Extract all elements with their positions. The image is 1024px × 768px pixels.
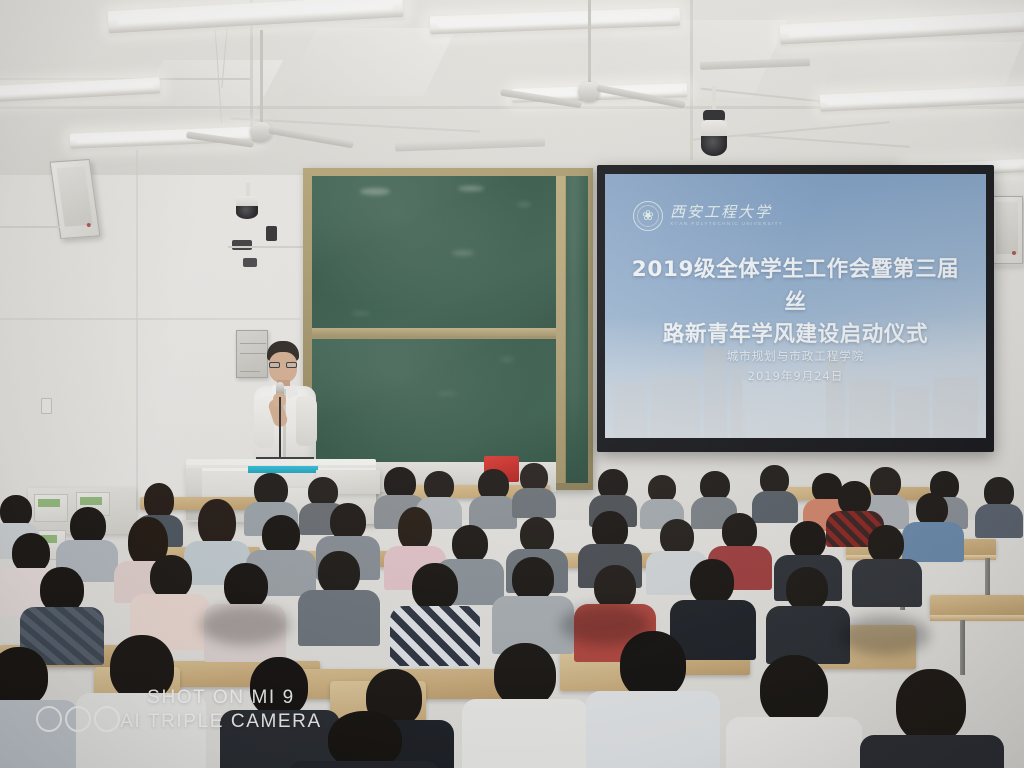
ceiling-fan-rod <box>260 30 263 125</box>
microphone-cord <box>279 397 281 457</box>
triple-camera-rings-icon <box>36 706 124 732</box>
university-logo: ❀ 西安工程大学 XI'AN POLYTECHNIC UNIVERSITY <box>633 201 783 231</box>
blackboard-upper-panel <box>312 176 557 331</box>
blackboard-divider <box>312 328 557 336</box>
presenter-arm-right <box>296 396 317 446</box>
camera-watermark: SHOT ON MI 9 AI TRIPLE CAMERA <box>0 688 330 750</box>
wall-sensor-icon <box>266 226 277 241</box>
wall-speaker-right <box>991 196 1023 264</box>
wall-seam <box>0 318 300 320</box>
wall-bracket <box>243 258 257 267</box>
presenter-eyeglasses <box>269 362 297 368</box>
ceiling-beam <box>690 0 693 160</box>
university-name-cn: 西安工程大学 <box>670 205 783 221</box>
dome-camera-lens <box>236 206 258 219</box>
dome-camera-lens <box>701 136 727 156</box>
wall-conduit <box>0 226 60 228</box>
light-switch[interactable] <box>41 398 52 414</box>
slide-date: 2019年9月24日 <box>605 366 986 386</box>
photo-scene: ❀ 西安工程大学 XI'AN POLYTECHNIC UNIVERSITY 20… <box>0 0 1024 768</box>
university-emblem-icon: ❀ <box>633 201 663 231</box>
slide-subtitle-block: 城市规划与市政工程学院 2019年9月24日 <box>605 346 986 386</box>
watermark-text: SHOT ON MI 9 AI TRIPLE CAMERA <box>112 686 330 735</box>
watermark-line2: AI TRIPLE CAMERA <box>112 710 330 734</box>
projected-slide: ❀ 西安工程大学 XI'AN POLYTECHNIC UNIVERSITY 20… <box>605 174 986 438</box>
desk-leg <box>960 620 965 675</box>
wall-conduit <box>228 246 308 248</box>
wall-bracket <box>232 240 252 250</box>
blackboard-side-panel <box>566 176 588 483</box>
ceiling-fan-rod <box>588 0 591 85</box>
university-name-en: XI'AN POLYTECHNIC UNIVERSITY <box>670 222 783 227</box>
blackboard-divider <box>556 176 565 483</box>
desk <box>930 595 1024 617</box>
projection-screen: ❀ 西安工程大学 XI'AN POLYTECHNIC UNIVERSITY 20… <box>597 165 994 452</box>
slide-title: 2019级全体学生工作会暨第三届丝 路新青年学风建设启动仪式 <box>605 254 986 352</box>
dome-camera-rod <box>712 86 716 112</box>
desk-edge <box>930 615 1024 621</box>
slide-department: 城市规划与市政工程学院 <box>605 346 986 366</box>
slide-title-line1: 2019级全体学生工作会暨第三届丝 <box>621 254 970 319</box>
watermark-line1: SHOT ON MI 9 <box>112 686 330 710</box>
dome-camera-rod <box>246 183 250 197</box>
